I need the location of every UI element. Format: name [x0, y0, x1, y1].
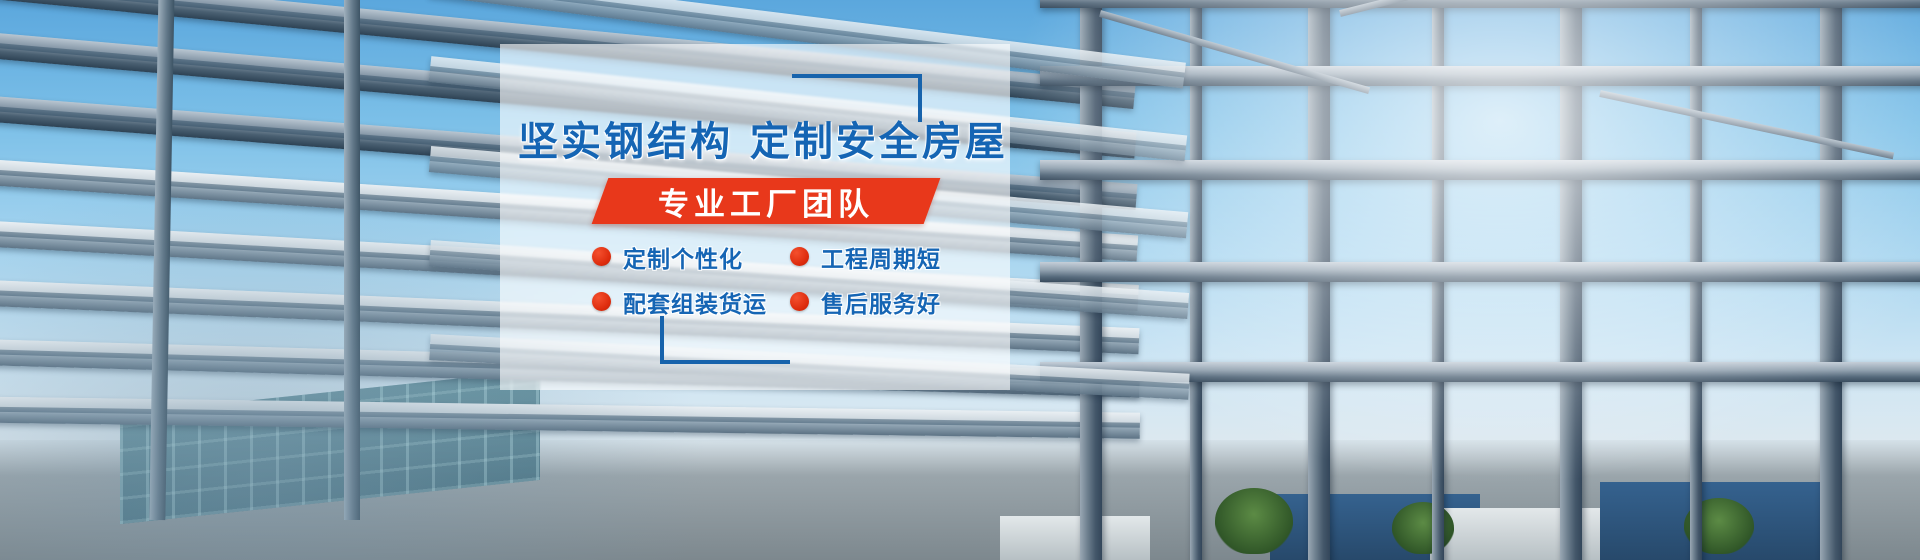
bullet-dot-icon — [592, 292, 611, 311]
feature-item-4: 售后服务好 — [790, 285, 990, 319]
bullet-dot-icon — [790, 247, 809, 266]
ribbon-label: 专业工厂团队 — [600, 178, 932, 224]
bullet-dot-icon — [592, 247, 611, 266]
bullet-dot-icon — [790, 292, 809, 311]
promotional-banner: 坚实钢结构 定制安全房屋 专业工厂团队 定制个性化 工程周期短 配套组装货运 售… — [0, 0, 1920, 560]
feature-item-2: 工程周期短 — [790, 240, 990, 274]
feature-item-1: 定制个性化 — [592, 240, 790, 274]
banner-headline: 坚实钢结构 定制安全房屋 — [518, 122, 1058, 162]
corner-bracket-top-right — [792, 74, 922, 122]
banner-content: 坚实钢结构 定制安全房屋 专业工厂团队 定制个性化 工程周期短 配套组装货运 售… — [500, 44, 1010, 390]
feature-label: 配套组装货运 — [623, 285, 767, 319]
feature-label: 售后服务好 — [821, 285, 941, 319]
feature-label: 工程周期短 — [821, 240, 941, 274]
feature-item-3: 配套组装货运 — [592, 285, 790, 319]
feature-label: 定制个性化 — [623, 240, 743, 274]
feature-list: 定制个性化 工程周期短 配套组装货运 售后服务好 — [592, 234, 1012, 324]
